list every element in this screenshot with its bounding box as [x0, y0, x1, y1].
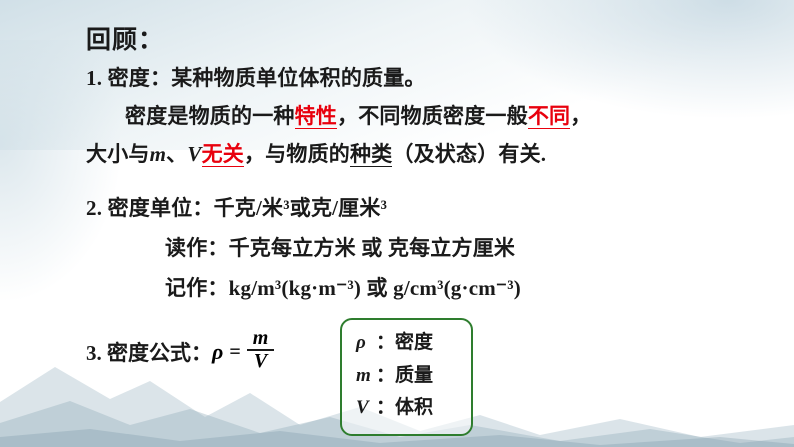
formula-symbol-rho: ρ — [212, 339, 223, 365]
unit-read-text: 千克每立方米 或 克每立方厘米 — [229, 236, 516, 260]
legend-meaning-volume: 体积 — [395, 397, 433, 418]
unit-read-label: 读作： — [165, 236, 229, 260]
emphasis-zhonglei: 种类 — [350, 142, 392, 167]
unit-write-line: 记作：kg/m³(kg·m⁻³) 或 g/cm³(g·cm⁻³) — [165, 272, 521, 302]
item-3-number-label: 3. 密度公式： — [86, 337, 212, 367]
legend-symbol-rho: ρ — [356, 327, 376, 360]
legend-meaning-density: 密度 — [395, 332, 433, 353]
formula-numerator: m — [247, 328, 275, 349]
item-1-text: 某种物质单位体积的质量。 — [171, 66, 425, 90]
item-3-number: 3. — [86, 341, 102, 365]
density-description-line-2: 大小与m、V无关，与物质的种类（及状态）有关. — [86, 138, 546, 168]
definition-line-1: 1. 密度：某种物质单位体积的质量。 — [86, 62, 426, 92]
legend-sep-0: ： — [376, 332, 395, 353]
formula-container: 3. 密度公式： ρ = m V — [86, 330, 276, 374]
formula-equals-sign: = — [229, 341, 240, 364]
legend-row-mass: m：质量 — [356, 360, 471, 393]
variable-V: V — [187, 142, 201, 166]
legend-row-volume: V：体积 — [356, 392, 471, 425]
legend-symbol-m: m — [356, 360, 376, 393]
unit-write-label: 记作： — [165, 276, 229, 300]
emphasis-butong: 不同 — [528, 104, 570, 129]
legend-sep-1: ： — [376, 365, 395, 386]
desc-part-3: ， — [570, 104, 591, 128]
variable-m: m — [150, 142, 167, 166]
emphasis-wuguan: 无关 — [202, 142, 244, 167]
item-2-text: 千克/米³或克/厘米³ — [214, 196, 387, 220]
item-2-number: 2. — [86, 196, 102, 220]
formula-denominator: V — [248, 351, 273, 372]
item-1-number: 1. — [86, 66, 102, 90]
emphasis-texing: 特性 — [295, 104, 337, 129]
unit-write-text: kg/m³(kg·m⁻³) 或 g/cm³(g·cm⁻³) — [229, 276, 521, 300]
definition-line-2: 2. 密度单位：千克/米³或克/厘米³ — [86, 192, 387, 222]
unit-read-line: 读作：千克每立方米 或 克每立方厘米 — [165, 232, 515, 262]
density-description-line-1: 密度是物质的一种特性，不同物质密度一般不同， — [125, 100, 591, 130]
legend-sep-2: ： — [376, 397, 395, 418]
formula-legend-box: ρ：密度 m：质量 V：体积 — [340, 318, 473, 436]
slide-content: 回顾： 1. 密度：某种物质单位体积的质量。 密度是物质的一种特性，不同物质密度… — [0, 0, 794, 447]
item-2-label: 密度单位： — [108, 196, 214, 220]
desc-part-6: （及状态）有关. — [392, 142, 546, 166]
desc-comma: 、 — [166, 142, 187, 166]
item-3-label: 密度公式： — [107, 341, 212, 365]
page-title: 回顾： — [86, 20, 164, 56]
legend-row-density: ρ：密度 — [356, 327, 471, 360]
desc-part-5: ，与物质的 — [244, 142, 350, 166]
desc-part-4: 大小与 — [86, 142, 150, 166]
formula-fraction: m V — [247, 328, 275, 372]
desc-part-1: 密度是物质的一种 — [125, 104, 295, 128]
legend-meaning-mass: 质量 — [395, 365, 433, 386]
desc-part-2: ，不同物质密度一般 — [337, 104, 528, 128]
item-1-label: 密度： — [108, 66, 172, 90]
slide: 回顾： 1. 密度：某种物质单位体积的质量。 密度是物质的一种特性，不同物质密度… — [0, 0, 794, 447]
legend-symbol-V: V — [356, 392, 376, 425]
